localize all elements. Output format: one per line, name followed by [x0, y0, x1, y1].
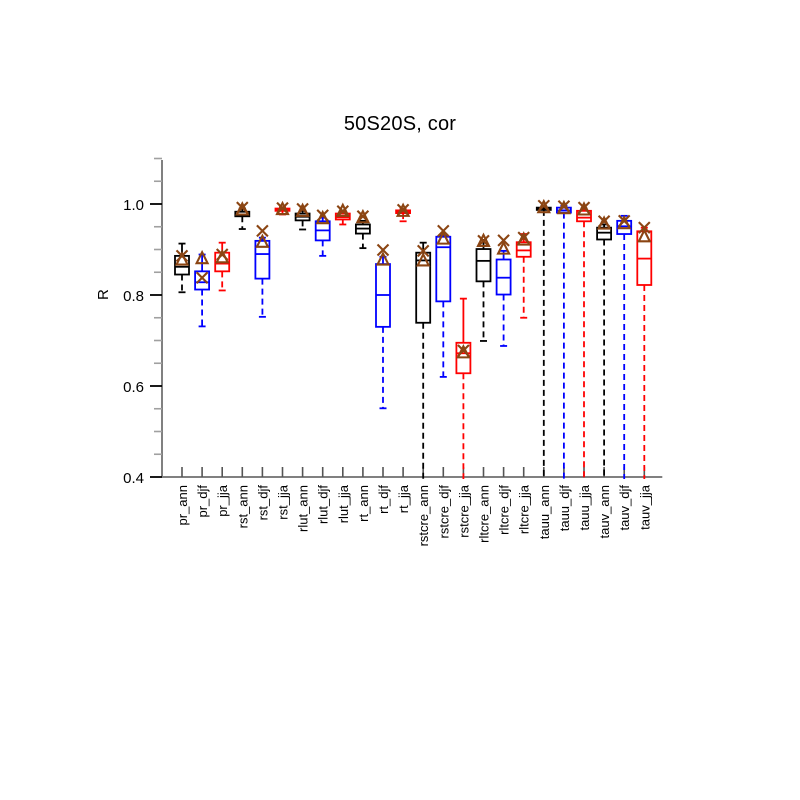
box-iqr [477, 249, 491, 281]
x-tick-label: rst_djf [255, 485, 270, 521]
box-plot-item[interactable] [316, 210, 330, 256]
x-tick-label: rstcre_ann [416, 485, 431, 546]
x-tick-label: rstcre_djf [436, 485, 451, 539]
x-tick-label: rst_ann [235, 485, 250, 528]
x-tick-label: rlut_ann [296, 485, 311, 532]
boxplot-canvas: 0.40.60.81.0 pr_annpr_djfpr_jjarst_annrs… [0, 0, 800, 800]
box-plot-item[interactable] [195, 252, 209, 326]
y-tick-label: 0.4 [123, 470, 144, 487]
x-tick-label: rltcre_jja [517, 484, 532, 534]
x-tick-label: rltcre_djf [497, 485, 512, 535]
x-tick-label: rt_jja [396, 484, 411, 513]
box-plot-item[interactable] [597, 216, 611, 479]
box-plot-item[interactable] [356, 211, 370, 248]
x-tick-label: rt_djf [376, 485, 391, 514]
box-plot-item[interactable] [537, 200, 551, 479]
y-tick-label: 1.0 [123, 197, 144, 214]
x-tick-label: tauu_djf [557, 485, 572, 532]
box-plot-item[interactable] [637, 222, 651, 479]
x-tick-label: tauu_jja [577, 484, 592, 530]
box-plot-item[interactable] [477, 235, 491, 341]
x-tick-label: rltcre_ann [477, 485, 492, 543]
box-plot-item[interactable] [215, 243, 229, 291]
box-plot-item[interactable] [436, 225, 450, 377]
x-tick-label: tauu_ann [537, 485, 552, 539]
box-plot-item[interactable] [416, 243, 430, 479]
box-plot-item[interactable] [396, 204, 410, 221]
x-tick-label: pr_jja [215, 484, 230, 517]
x-tick-label: pr_djf [195, 485, 210, 518]
x-tick-label: rlut_jja [336, 484, 351, 523]
x-tick-label: tauv_jja [637, 484, 652, 530]
box-plot-item[interactable] [577, 202, 591, 479]
x-tick-labels: pr_annpr_djfpr_jjarst_annrst_djfrst_jjar… [175, 484, 652, 546]
y-tick-label: 0.8 [123, 288, 144, 305]
y-tick-label: 0.6 [123, 379, 144, 396]
box-plot-item[interactable] [175, 244, 189, 293]
x-tick-label: rstcre_jja [456, 484, 471, 538]
x-tick-label: rst_jja [276, 484, 291, 519]
box-plot-item[interactable] [557, 201, 571, 479]
box-plot-item[interactable] [255, 225, 269, 316]
box-series [175, 200, 651, 479]
box-plot-item[interactable] [296, 204, 310, 230]
box-plot-item[interactable] [497, 235, 511, 346]
x-tick-label: rlut_djf [316, 485, 331, 524]
box-plot-item[interactable] [617, 215, 631, 479]
box-plot-item[interactable] [517, 232, 531, 318]
x-tick-label: rt_ann [356, 485, 371, 522]
x-tick-label: tauv_djf [617, 485, 632, 531]
x-tick-label: tauv_ann [597, 485, 612, 539]
x-tick-label: pr_ann [175, 485, 190, 525]
y-axis: 0.40.60.81.0 [123, 159, 162, 488]
box-plot-item[interactable] [276, 203, 290, 215]
box-plot-item[interactable] [376, 244, 390, 408]
box-plot-item[interactable] [456, 299, 470, 479]
box-plot-item[interactable] [336, 205, 350, 225]
box-plot-item[interactable] [235, 202, 249, 229]
x-axis [162, 467, 662, 477]
chart-page: 50S20S, cor R 0.40.60.81.0 pr_annpr_djfp… [0, 0, 800, 800]
